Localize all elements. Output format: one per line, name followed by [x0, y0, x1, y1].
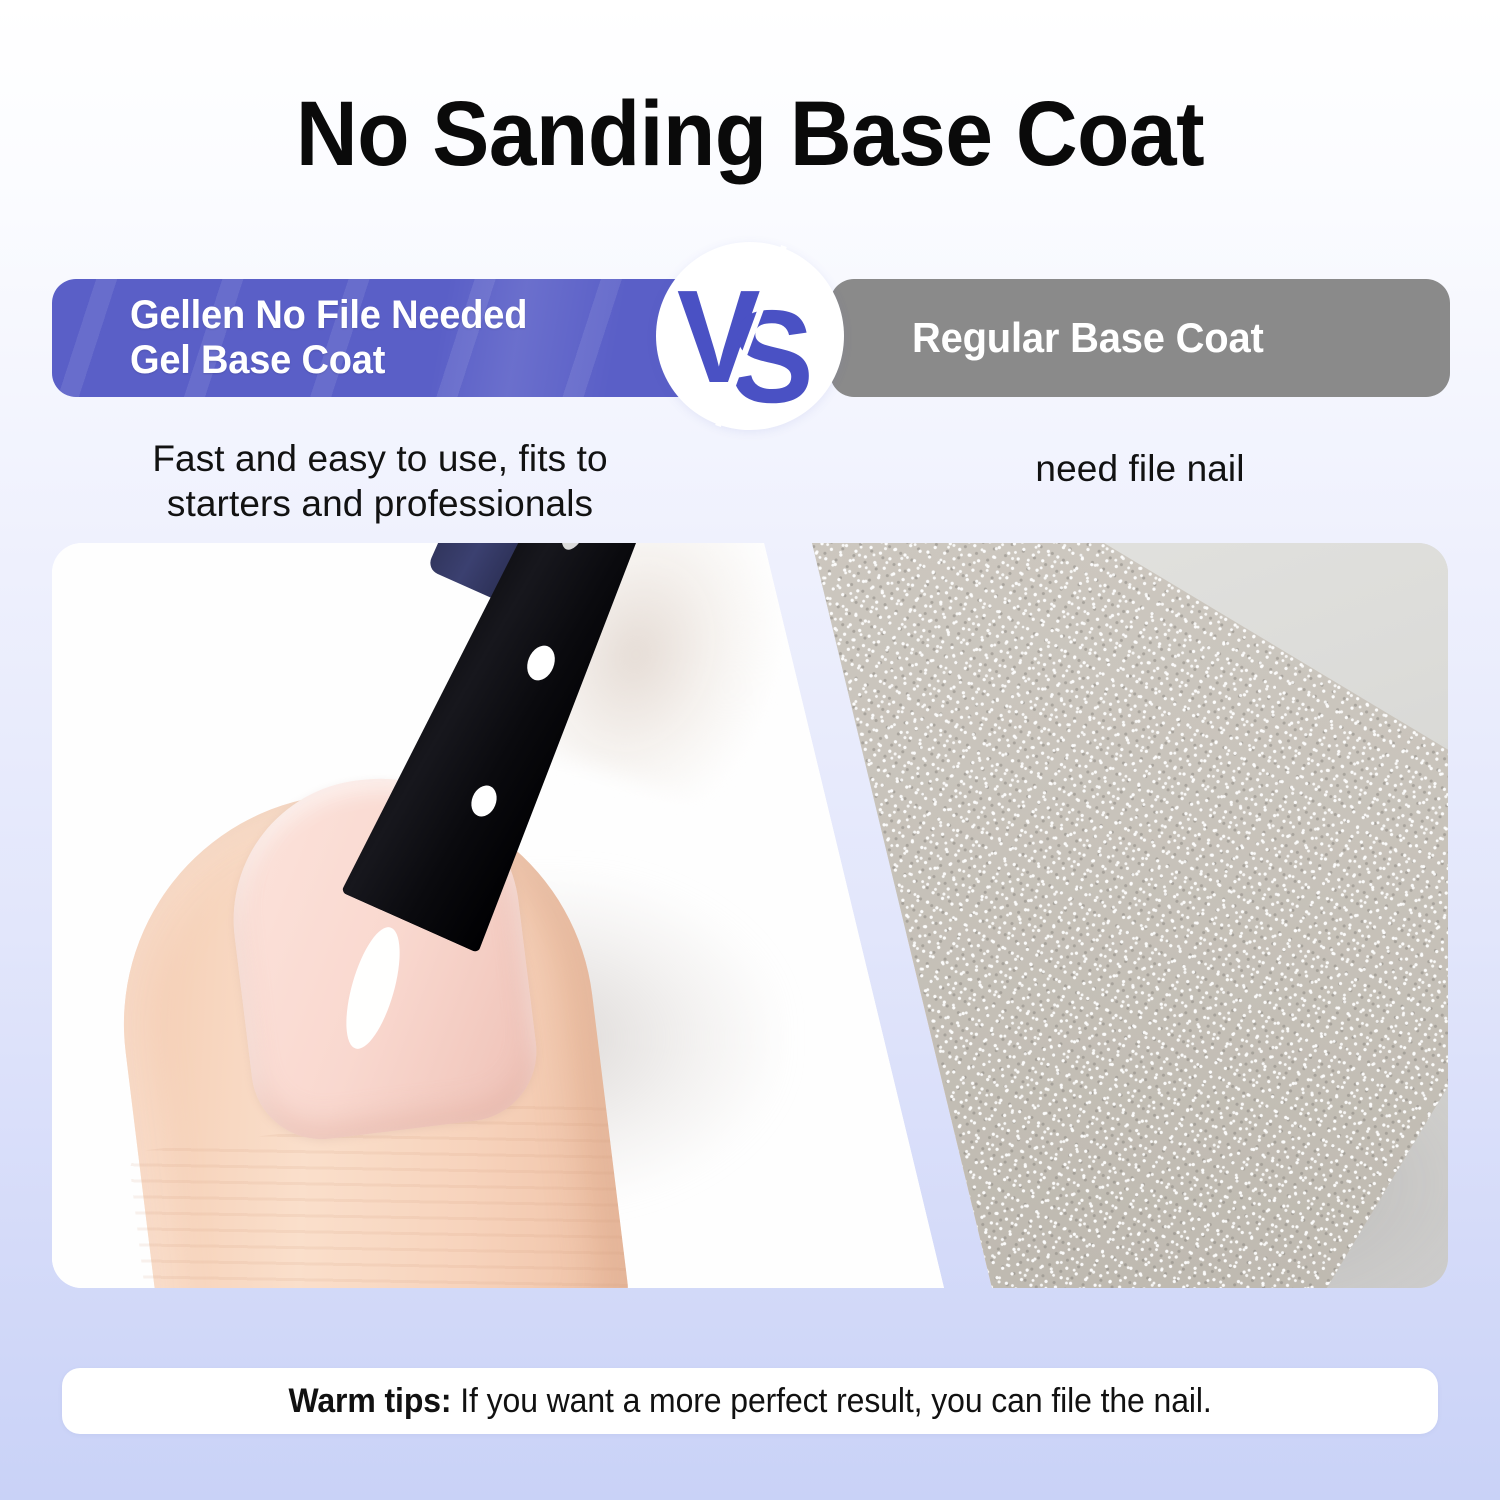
warm-tips-text: Warm tips: If you want a more perfect re… — [288, 1382, 1211, 1421]
right-product-banner: Regular Base Coat — [830, 279, 1450, 397]
warm-tips-bar: Warm tips: If you want a more perfect re… — [62, 1368, 1438, 1434]
left-photo-panel — [52, 543, 952, 1288]
comparison-photo-panels — [0, 543, 1500, 1288]
left-caption: Fast and easy to use, fits to starters a… — [100, 436, 660, 526]
right-banner-label: Regular Base Coat — [912, 314, 1264, 362]
gel-base-coat-photo — [52, 543, 952, 1288]
page-title: No Sanding Base Coat — [53, 88, 1448, 180]
left-banner-label: Gellen No File Needed Gel Base Coat — [130, 293, 527, 383]
right-caption: need file nail — [830, 446, 1450, 491]
left-product-banner: Gellen No File Needed Gel Base Coat — [52, 279, 752, 397]
left-banner-label-line2: Gel Base Coat — [130, 338, 527, 383]
warm-tips-prefix: Warm tips: — [288, 1382, 451, 1420]
vs-badge: V S — [656, 242, 844, 430]
left-banner-label-line1: Gellen No File Needed — [130, 293, 527, 338]
warm-tips-body: If you want a more perfect result, you c… — [451, 1382, 1211, 1420]
